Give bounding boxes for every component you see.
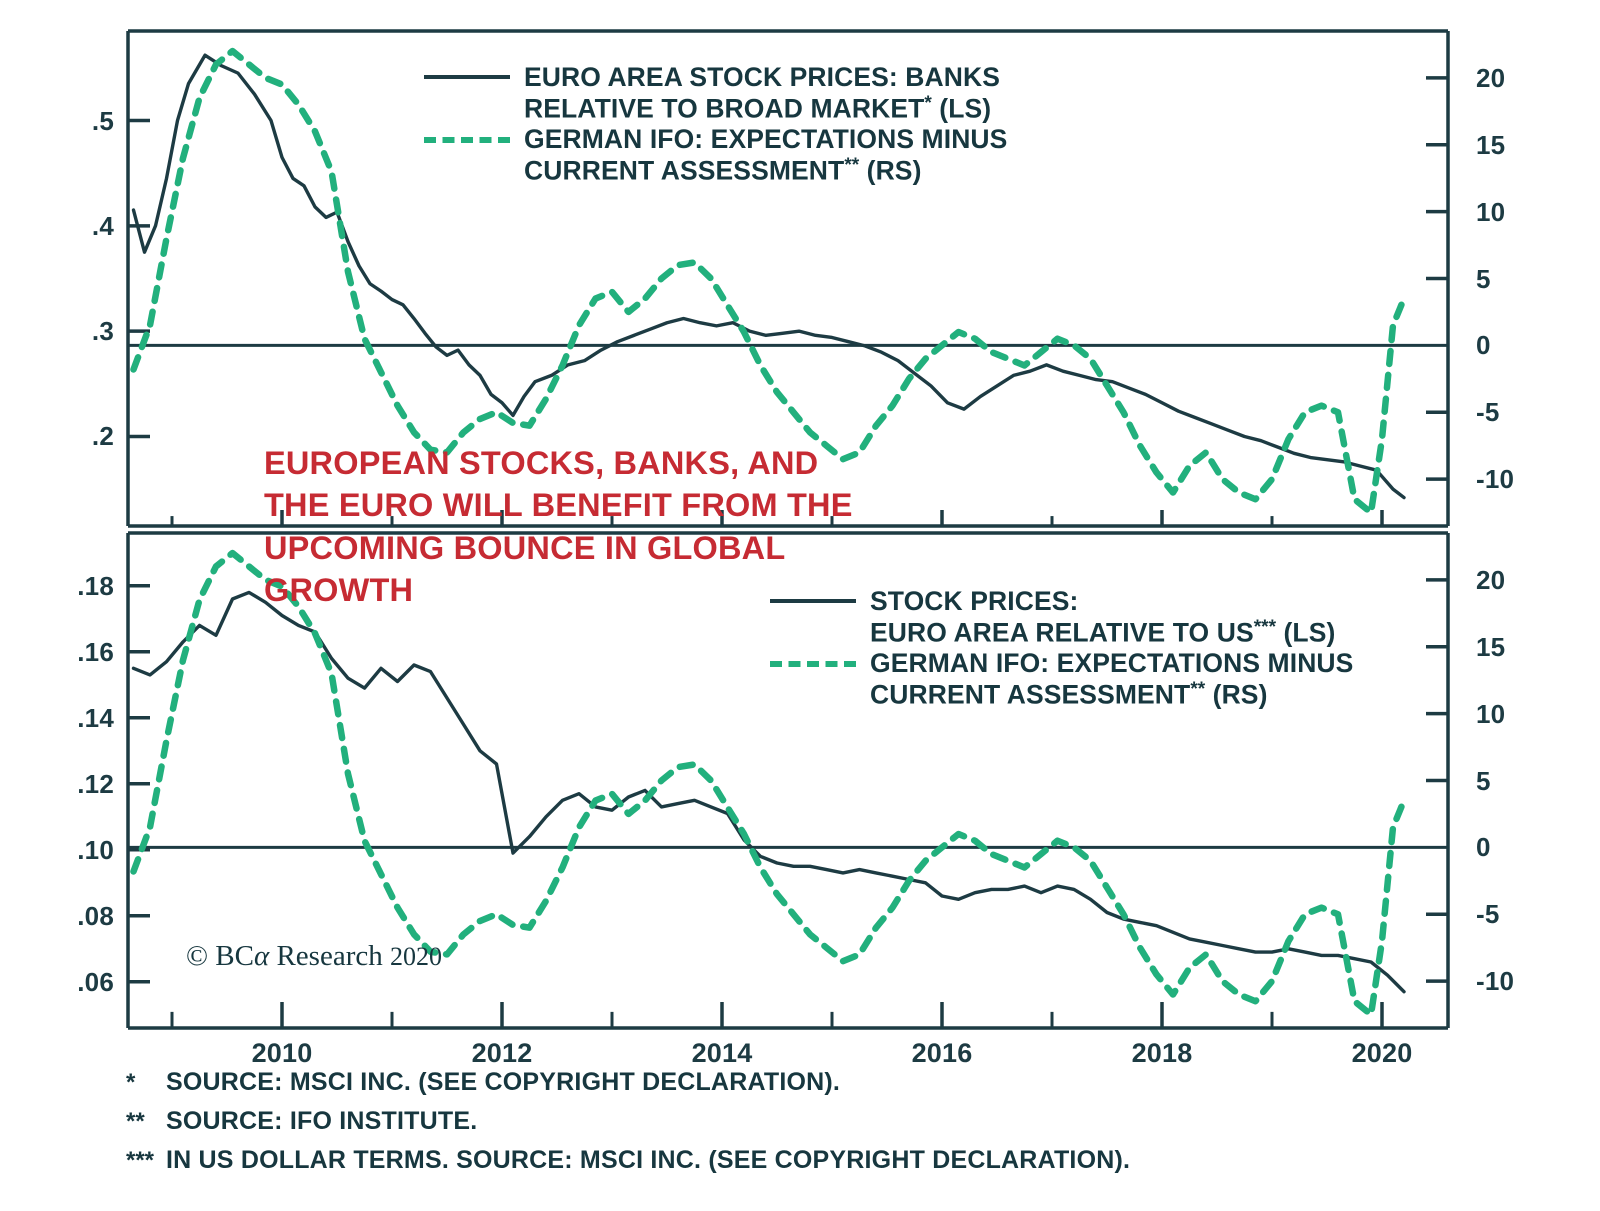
legend-label: EURO AREA STOCK PRICES: BANKSRELATIVE TO… bbox=[524, 62, 1000, 124]
footnote-text: IN US DOLLAR TERMS. SOURCE: MSCI INC. (S… bbox=[166, 1146, 1130, 1175]
ytick-label-left: .12 bbox=[77, 771, 114, 797]
ytick-label-right: 5 bbox=[1476, 266, 1491, 292]
ytick-label-left: .3 bbox=[92, 318, 114, 344]
brand-name: BC bbox=[215, 940, 254, 972]
legend-item-top-0: EURO AREA STOCK PRICES: BANKSRELATIVE TO… bbox=[424, 62, 1007, 124]
xtick-label: 2018 bbox=[1132, 1040, 1193, 1067]
ytick-label-left: .08 bbox=[77, 903, 114, 929]
footnote-marker: ** bbox=[126, 1108, 166, 1136]
ytick-label-right: -5 bbox=[1476, 901, 1500, 927]
ytick-label-right: -10 bbox=[1476, 968, 1514, 994]
ytick-label-right: 0 bbox=[1476, 834, 1491, 860]
xtick-label: 2016 bbox=[912, 1040, 973, 1067]
ytick-label-left: .2 bbox=[92, 423, 114, 449]
legend-swatch-dashed-icon bbox=[770, 661, 856, 667]
ytick-label-right: 20 bbox=[1476, 567, 1505, 593]
ytick-label-right: 15 bbox=[1476, 132, 1505, 158]
headline-callout: EUROPEAN STOCKS, BANKS, AND THE EURO WIL… bbox=[264, 442, 984, 611]
ytick-label-right: 5 bbox=[1476, 768, 1491, 794]
xtick-label: 2014 bbox=[692, 1040, 753, 1067]
ytick-label-right: 10 bbox=[1476, 199, 1505, 225]
ytick-label-left: .06 bbox=[77, 969, 114, 995]
footnote-row: * SOURCE: MSCI INC. (SEE COPYRIGHT DECLA… bbox=[126, 1068, 1130, 1097]
ytick-label-left: .14 bbox=[77, 705, 114, 731]
legend-label: GERMAN IFO: EXPECTATIONS MINUSCURRENT AS… bbox=[524, 124, 1007, 186]
ytick-label-left: .16 bbox=[77, 639, 114, 665]
ytick-label-right: 15 bbox=[1476, 634, 1505, 660]
ytick-label-right: -5 bbox=[1476, 399, 1500, 425]
ytick-label-left: .5 bbox=[92, 108, 114, 134]
footnote-text: SOURCE: IFO INSTITUTE. bbox=[166, 1107, 477, 1136]
xtick-label: 2020 bbox=[1352, 1040, 1413, 1067]
footnote-row: ** SOURCE: IFO INSTITUTE. bbox=[126, 1107, 1130, 1136]
footnote-marker: *** bbox=[126, 1147, 166, 1175]
legend-swatch-solid-icon bbox=[424, 75, 510, 79]
xtick-label: 2012 bbox=[472, 1040, 533, 1067]
xtick-label: 2010 bbox=[252, 1040, 313, 1067]
footnote-text: SOURCE: MSCI INC. (SEE COPYRIGHT DECLARA… bbox=[166, 1068, 840, 1097]
legend-label: GERMAN IFO: EXPECTATIONS MINUSCURRENT AS… bbox=[870, 648, 1353, 710]
copyright-notice: © BCα Research 2020 bbox=[186, 940, 442, 973]
copyright-year: 2020 bbox=[390, 942, 442, 971]
legend-item-bottom-1: GERMAN IFO: EXPECTATIONS MINUSCURRENT AS… bbox=[770, 648, 1353, 710]
ytick-label-right: -10 bbox=[1476, 466, 1514, 492]
footnote-marker: * bbox=[126, 1069, 166, 1097]
ytick-label-right: 10 bbox=[1476, 701, 1505, 727]
chart-page: .5.4.3.220151050-5-10.18.16.14.12.10.08.… bbox=[0, 0, 1600, 1211]
legend-swatch-dashed-icon bbox=[424, 137, 510, 143]
footnote-row: *** IN US DOLLAR TERMS. SOURCE: MSCI INC… bbox=[126, 1146, 1130, 1175]
brand-word: Research bbox=[276, 940, 382, 972]
legend-item-top-1: GERMAN IFO: EXPECTATIONS MINUSCURRENT AS… bbox=[424, 124, 1007, 186]
copyright-symbol: © bbox=[186, 940, 208, 972]
brand-alpha-glyph: α bbox=[254, 940, 269, 972]
footnotes: * SOURCE: MSCI INC. (SEE COPYRIGHT DECLA… bbox=[126, 1068, 1130, 1185]
ytick-label-right: 0 bbox=[1476, 332, 1491, 358]
ytick-label-left: .18 bbox=[77, 573, 114, 599]
ytick-label-left: .4 bbox=[92, 213, 114, 239]
legend-top: EURO AREA STOCK PRICES: BANKSRELATIVE TO… bbox=[424, 62, 1007, 186]
ytick-label-left: .10 bbox=[77, 837, 114, 863]
ytick-label-right: 20 bbox=[1476, 65, 1505, 91]
